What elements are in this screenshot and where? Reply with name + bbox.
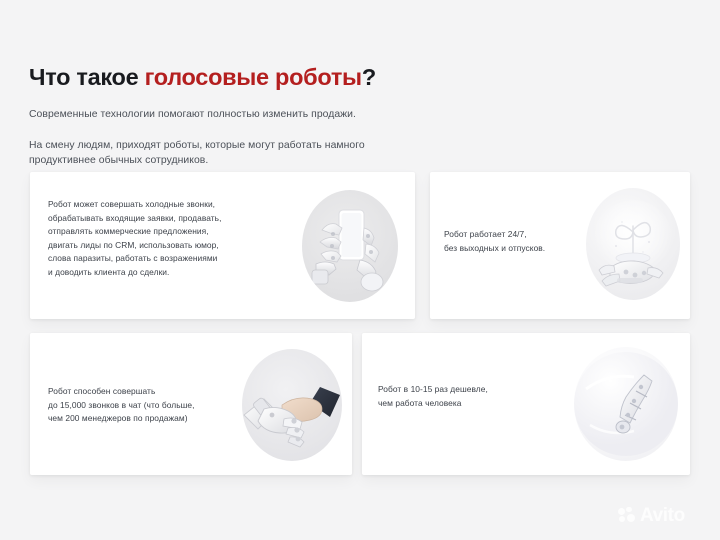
avito-watermark: Avito	[618, 502, 702, 528]
page-title-suffix: ?	[362, 64, 376, 90]
feature-card-3: Робот способен совершать до 15,000 звонк…	[30, 333, 352, 475]
feature-card-2: Робот работает 24/7, без выходных и отпу…	[430, 172, 690, 319]
feature-card-1: Робот может совершать холодные звонки, о…	[30, 172, 415, 319]
robot-human-handshake-photo	[242, 349, 342, 461]
avito-wordmark: Avito	[640, 506, 685, 525]
page-title-prefix: Что такое	[29, 64, 145, 90]
robot-hands-holding-smartphone-photo	[302, 190, 398, 302]
feature-card-1-text: Робот может совершать холодные звонки, о…	[48, 198, 288, 280]
slide-canvas: Что такое голосовые роботы? Современные …	[0, 0, 720, 540]
feature-card-3-text: Робот способен совершать до 15,000 звонк…	[48, 385, 248, 426]
robot-hand-holding-glowing-sprout-photo	[586, 188, 680, 300]
feature-card-2-text: Робот работает 24/7, без выходных и отпу…	[444, 228, 594, 255]
feature-card-4-text: Робот в 10-15 раз дешевле, чем работа че…	[378, 383, 538, 410]
page-title: Что такое голосовые роботы?	[29, 64, 376, 91]
avito-dots-logo	[618, 507, 637, 524]
page-title-accent: голосовые роботы	[145, 64, 362, 90]
intro-paragraph-2: На смену людям, приходят роботы, которые…	[29, 138, 429, 168]
robot-finger-pointing-photo	[574, 347, 678, 461]
intro-paragraph-1: Современные технологии помогают полность…	[29, 107, 356, 122]
feature-card-4: Робот в 10-15 раз дешевле, чем работа че…	[362, 333, 690, 475]
